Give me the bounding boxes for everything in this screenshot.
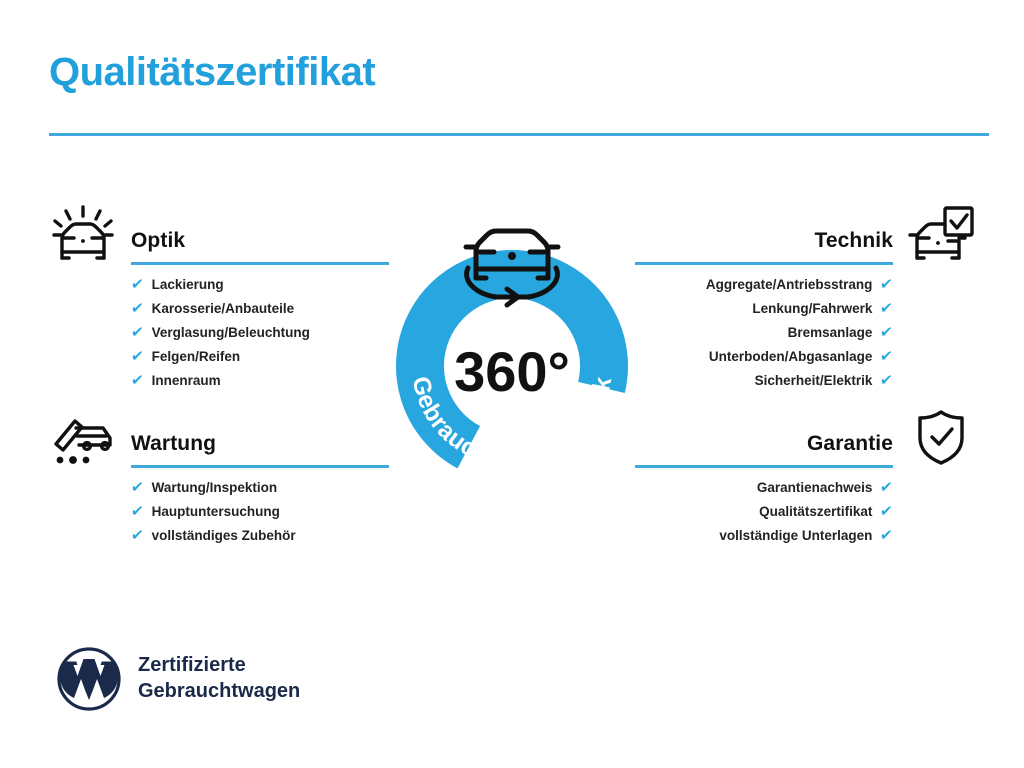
list-item-label: Bremsanlage: [788, 321, 873, 345]
certificate-page: Qualitätszertifikat: [0, 0, 1024, 768]
list-item-label: Garantienachweis: [757, 476, 873, 500]
volkswagen-lockup-text: Zertifizierte Gebrauchtwagen: [138, 653, 300, 704]
check-icon: ✔: [880, 504, 894, 519]
section-optik-header: Optik: [49, 205, 389, 273]
list-item: Bremsanlage ✔: [635, 321, 893, 345]
check-icon: ✔: [880, 325, 894, 340]
list-item-label: Lenkung/Fahrwerk: [752, 297, 872, 321]
check-icon: ✔: [880, 277, 894, 292]
section-wartung-divider: [131, 465, 389, 468]
list-item: Garantienachweis ✔: [635, 476, 893, 500]
section-wartung-header: Wartung: [49, 408, 389, 476]
list-item: ✔ Karosserie/Anbauteile: [131, 297, 389, 321]
section-optik-divider: [131, 262, 389, 265]
section-wartung: Wartung ✔ Wartung/Inspektion ✔ Hauptunte…: [49, 408, 389, 548]
check-icon: ✔: [130, 504, 144, 519]
page-title: Qualitätszertifikat: [49, 50, 375, 94]
section-technik-list: Aggregate/Antriebsstrang ✔ Lenkung/Fahrw…: [635, 273, 975, 393]
lockup-line-2: Gebrauchtwagen: [138, 679, 300, 705]
check-icon: ✔: [880, 349, 894, 364]
check-icon: ✔: [130, 277, 144, 292]
list-item-label: Verglasung/Beleuchtung: [152, 321, 310, 345]
check-icon: ✔: [130, 325, 144, 340]
volkswagen-logo: [56, 646, 122, 712]
list-item: Qualitätszertifikat ✔: [635, 500, 893, 524]
section-garantie-title: Garantie: [807, 432, 893, 456]
header-divider: [49, 133, 989, 136]
badge-center-label: 360°: [454, 340, 570, 403]
check-icon: ✔: [880, 301, 894, 316]
check-icon: ✔: [130, 301, 144, 316]
list-item-label: Felgen/Reifen: [152, 345, 241, 369]
list-item: ✔ Verglasung/Beleuchtung: [131, 321, 389, 345]
list-item: Lenkung/Fahrwerk ✔: [635, 297, 893, 321]
check-icon: ✔: [130, 373, 144, 388]
car-rotate-icon: [466, 231, 558, 305]
check-icon: ✔: [130, 528, 144, 543]
list-item-label: Qualitätszertifikat: [759, 500, 872, 524]
section-optik: Optik ✔ Lackierung ✔ Karosserie/Anbautei…: [49, 205, 389, 393]
list-item: ✔ Lackierung: [131, 273, 389, 297]
section-garantie-header: Garantie: [635, 408, 975, 476]
check-icon: ✔: [880, 373, 894, 388]
check-icon: ✔: [880, 528, 894, 543]
list-item-label: Aggregate/Antriebsstrang: [706, 273, 873, 297]
section-wartung-title: Wartung: [131, 432, 216, 456]
list-item-label: Wartung/Inspektion: [152, 476, 278, 500]
check-icon: ✔: [130, 349, 144, 364]
list-item: ✔ Wartung/Inspektion: [131, 476, 389, 500]
section-garantie-list: Garantienachweis ✔ Qualitätszertifikat ✔…: [635, 476, 975, 548]
list-item: ✔ Felgen/Reifen: [131, 345, 389, 369]
list-item-label: Sicherheit/Elektrik: [755, 369, 873, 393]
list-item-label: Karosserie/Anbauteile: [152, 297, 295, 321]
section-garantie: Garantie Garantienachweis ✔ Qualitätszer…: [635, 408, 975, 548]
list-item: ✔ Hauptuntersuchung: [131, 500, 389, 524]
list-item: vollständige Unterlagen ✔: [635, 524, 893, 548]
lockup-line-1: Zertifizierte: [138, 653, 300, 679]
wrench-car-service-icon: [49, 408, 117, 466]
list-item-label: vollständige Unterlagen: [719, 524, 872, 548]
shiny-car-front-icon: [49, 205, 117, 263]
section-technik-title: Technik: [815, 229, 894, 253]
list-item: ✔ vollständiges Zubehör: [131, 524, 389, 548]
list-item: Aggregate/Antriebsstrang ✔: [635, 273, 893, 297]
volkswagen-lockup: Zertifizierte Gebrauchtwagen: [56, 646, 300, 712]
section-garantie-divider: [635, 465, 893, 468]
check-icon: ✔: [880, 480, 894, 495]
list-item-label: Unterboden/Abgasanlage: [709, 345, 873, 369]
section-technik-divider: [635, 262, 893, 265]
shield-check-icon: [907, 408, 975, 466]
section-optik-list: ✔ Lackierung ✔ Karosserie/Anbauteile ✔ V…: [49, 273, 389, 393]
section-wartung-list: ✔ Wartung/Inspektion ✔ Hauptuntersuchung…: [49, 476, 389, 548]
section-technik-header: Technik: [635, 205, 975, 273]
check-icon: ✔: [130, 480, 144, 495]
list-item-label: Hauptuntersuchung: [152, 500, 280, 524]
section-technik: Technik Aggregate/Antriebsstrang ✔ Lenku…: [635, 205, 975, 393]
list-item: ✔ Innenraum: [131, 369, 389, 393]
list-item: Sicherheit/Elektrik ✔: [635, 369, 893, 393]
section-optik-title: Optik: [131, 229, 185, 253]
list-item-label: Lackierung: [152, 273, 224, 297]
list-item-label: vollständiges Zubehör: [152, 524, 296, 548]
list-item: Unterboden/Abgasanlage ✔: [635, 345, 893, 369]
list-item-label: Innenraum: [152, 369, 221, 393]
car-checkbox-icon: [907, 205, 975, 263]
360-check-badge: Gebrauchtwagen-Check 360°: [372, 196, 652, 496]
